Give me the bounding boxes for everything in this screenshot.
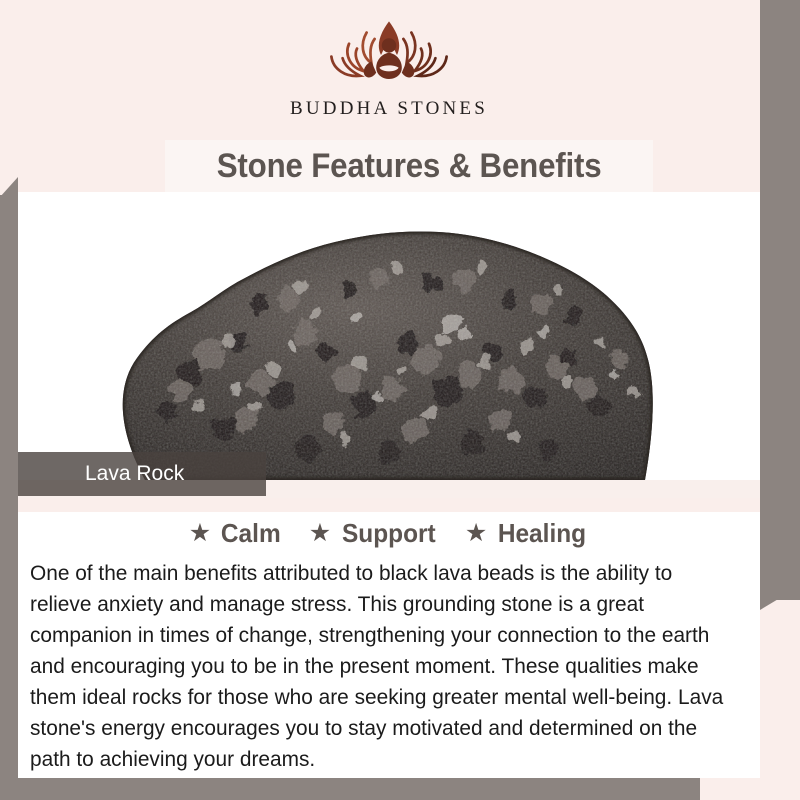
photo-caption-bar: Lava Rock [18, 452, 266, 496]
description-text: One of the main benefits attributed to b… [30, 558, 734, 775]
benefit-label: Healing [498, 518, 586, 549]
benefit-label: Support [342, 518, 436, 549]
frame-band-right [760, 0, 800, 600]
frame-band-left [0, 195, 18, 800]
star-icon: ★ [465, 521, 487, 546]
frame-band-bottom [0, 778, 700, 800]
photo-caption: Lava Rock [18, 462, 184, 486]
benefit-item: ★ Calm [189, 518, 283, 549]
brand-name: BUDDHA STONES [290, 98, 488, 120]
benefits-row: ★ Calm ★ Support ★ Healing [18, 512, 760, 553]
lotus-meditation-figure-icon [309, 14, 469, 96]
brand-header: BUDDHA STONES [18, 0, 760, 140]
star-icon: ★ [309, 521, 331, 546]
benefit-item: ★ Healing [465, 518, 589, 549]
content-column: BUDDHA STONES Stone Features & Benefits [18, 0, 760, 778]
description-area: One of the main benefits attributed to b… [18, 552, 760, 778]
page-title: Stone Features & Benefits [217, 147, 602, 186]
stone-photo [18, 192, 760, 480]
benefit-label: Calm [221, 518, 281, 549]
star-icon: ★ [189, 521, 211, 546]
benefit-item: ★ Support [309, 518, 439, 549]
title-banner: Stone Features & Benefits [165, 140, 653, 192]
lava-rock-photo [49, 192, 729, 480]
